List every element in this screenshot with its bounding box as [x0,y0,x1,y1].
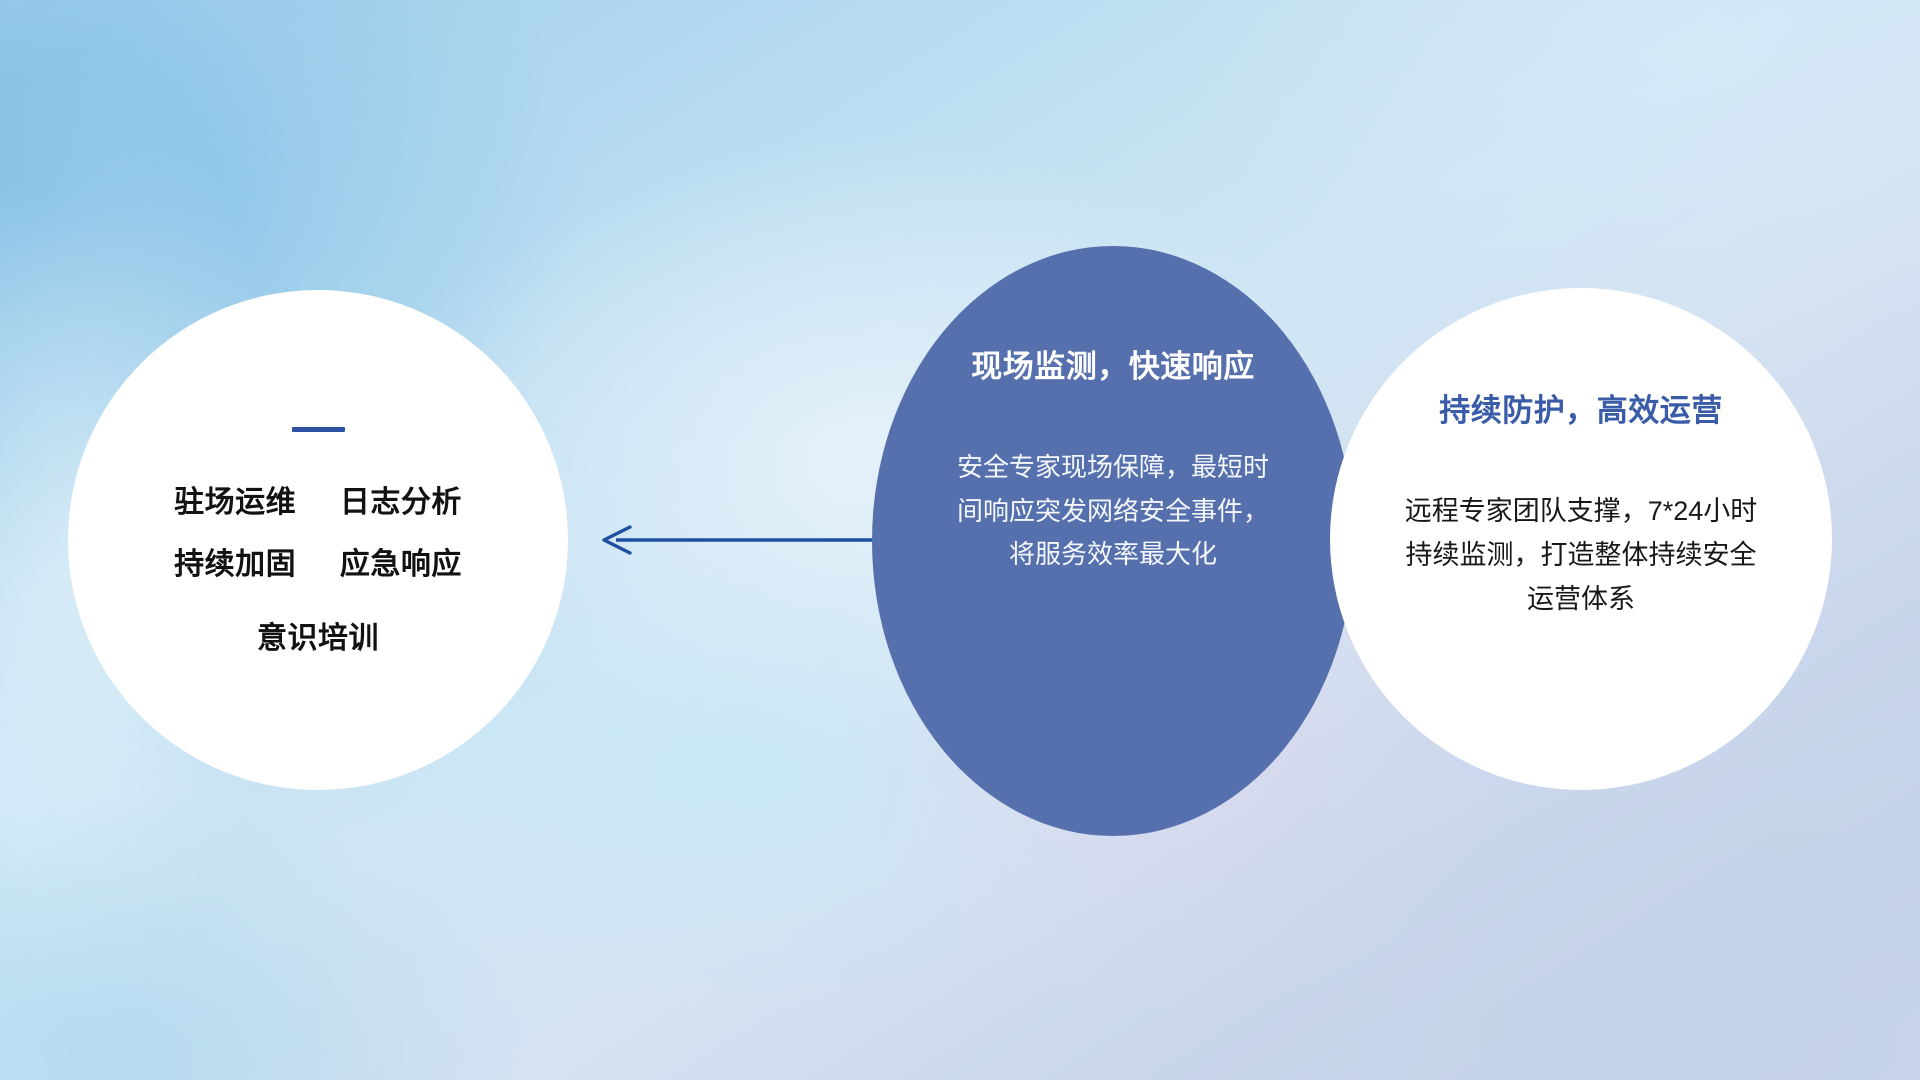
left-circle-text-row-3: 意识培训 [257,624,379,654]
middle-service-circle: 现场监测，快速响应 安全专家现场保障，最短时间响应突发网络安全事件，将服务效率最… [872,246,1354,836]
left-circle-text-row-2: 持续加固 应急响应 [174,550,462,580]
right-circle-content: 持续防护，高效运营 远程专家团队支撑，7*24小时持续监测，打造整体持续安全运营… [1330,288,1832,790]
left-circle-content: 驻场运维 日志分析 持续加固 应急响应 意识培训 [68,290,568,790]
middle-circle-content: 现场监测，快速响应 安全专家现场保障，最短时间响应突发网络安全事件，将服务效率最… [872,246,1354,836]
left-circle-item-continuous-hardening: 持续加固 [174,548,296,581]
middle-circle-title: 现场监测，快速响应 [971,350,1255,384]
left-circle-item-awareness-training: 意识培训 [257,622,379,655]
right-circle-body-text: 远程专家团队支撑，7*24小时持续监测，打造整体持续安全运营体系 [1395,490,1767,621]
right-service-circle: 持续防护，高效运营 远程专家团队支撑，7*24小时持续监测，打造整体持续安全运营… [1330,288,1832,790]
middle-circle-body-text: 安全专家现场保障，最短时间响应突发网络安全事件，将服务效率最大化 [954,446,1272,577]
left-circle-text-row-1: 驻场运维 日志分析 [174,488,462,518]
right-circle-title: 持续防护，高效运营 [1439,394,1723,428]
slide-canvas: 驻场运维 日志分析 持续加固 应急响应 意识培训 现场监测，快速响应 安全专家现… [0,0,1920,1080]
left-circle-item-onsite-ops: 驻场运维 [174,486,296,519]
left-circle-divider-dash [292,427,345,432]
left-circle-item-emergency-response: 应急响应 [340,548,462,581]
left-pointing-arrow-icon [598,516,874,564]
left-circle-item-log-analysis: 日志分析 [340,486,462,519]
left-service-circle: 驻场运维 日志分析 持续加固 应急响应 意识培训 [68,290,568,790]
